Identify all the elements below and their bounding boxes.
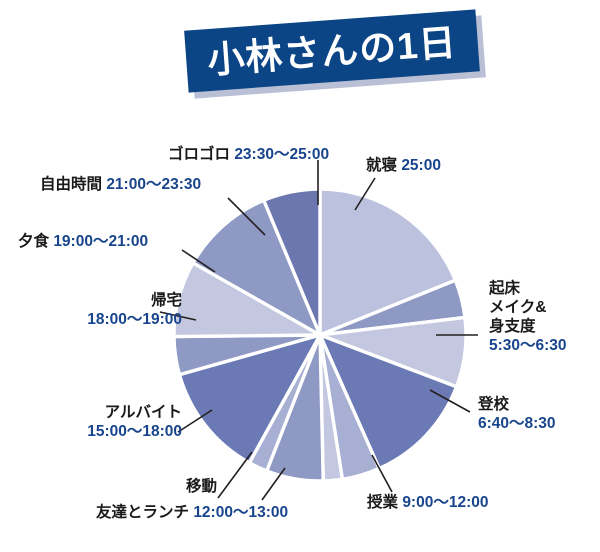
label-name-arubaito: アルバイト [22, 404, 182, 423]
slice-label-jugyo: 授業 9:00〜12:00 [367, 494, 488, 513]
slice-label-toko: 登校6:40〜8:30 [478, 396, 556, 434]
label-name-gorogoro: ゴロゴロ [168, 146, 234, 163]
slice-label-tomodachi: 友達とランチ 12:00〜13:00 [96, 504, 288, 523]
label-time-kisho: 5:30〜6:30 [489, 337, 567, 356]
label-name-jugyo: 授業 [367, 494, 402, 511]
label-name-yushoku: 夕食 [18, 233, 53, 250]
label-name-shushin: 就寝 [366, 157, 401, 174]
label-name-kisho-line2: メイク& [489, 299, 567, 318]
label-time-tomodachi: 12:00〜13:00 [193, 504, 288, 521]
label-name-kisho-line3: 身支度 [489, 318, 567, 337]
slice-label-shushin: 就寝 25:00 [366, 157, 441, 176]
label-name-jiyu: 自由時間 [40, 176, 106, 193]
label-time-gorogoro: 23:30〜25:00 [234, 146, 329, 163]
pie-slice-group [174, 189, 466, 481]
slice-label-jiyu: 自由時間 21:00〜23:30 [40, 176, 201, 195]
slice-label-yushoku: 夕食 19:00〜21:00 [18, 233, 148, 252]
slice-label-gorogoro: ゴロゴロ 23:30〜25:00 [168, 146, 329, 165]
label-time-jiyu: 21:00〜23:30 [106, 176, 201, 193]
slice-label-arubaito: アルバイト15:00〜18:00 [22, 404, 182, 442]
label-name-tomodachi: 友達とランチ [96, 504, 193, 521]
label-name-kitaku: 帰宅 [32, 292, 182, 311]
label-time-jugyo: 9:00〜12:00 [402, 494, 488, 511]
label-name-kisho-line1: 起床 [489, 280, 567, 299]
label-name-ido: 移動 [186, 478, 217, 495]
slice-label-kitaku: 帰宅18:00〜19:00 [32, 292, 182, 330]
slice-label-ido: 移動 [186, 478, 217, 497]
leader-line-tomodachi [218, 452, 252, 498]
slice-label-kisho: 起床メイク&身支度5:30〜6:30 [489, 280, 567, 356]
pie-chart-svg [0, 0, 600, 552]
label-time-shushin: 25:00 [401, 157, 441, 174]
pie-chart [0, 0, 600, 552]
label-name-toko: 登校 [478, 396, 556, 415]
label-time-kitaku: 18:00〜19:00 [32, 311, 182, 330]
label-time-yushoku: 19:00〜21:00 [53, 233, 148, 250]
pie-chart-infographic: 小林さんの1日 ゴロゴロ 23:30〜25:00 自由時間 21:00〜23:3… [0, 0, 600, 552]
label-time-arubaito: 15:00〜18:00 [22, 423, 182, 442]
label-time-toko: 6:40〜8:30 [478, 415, 556, 434]
